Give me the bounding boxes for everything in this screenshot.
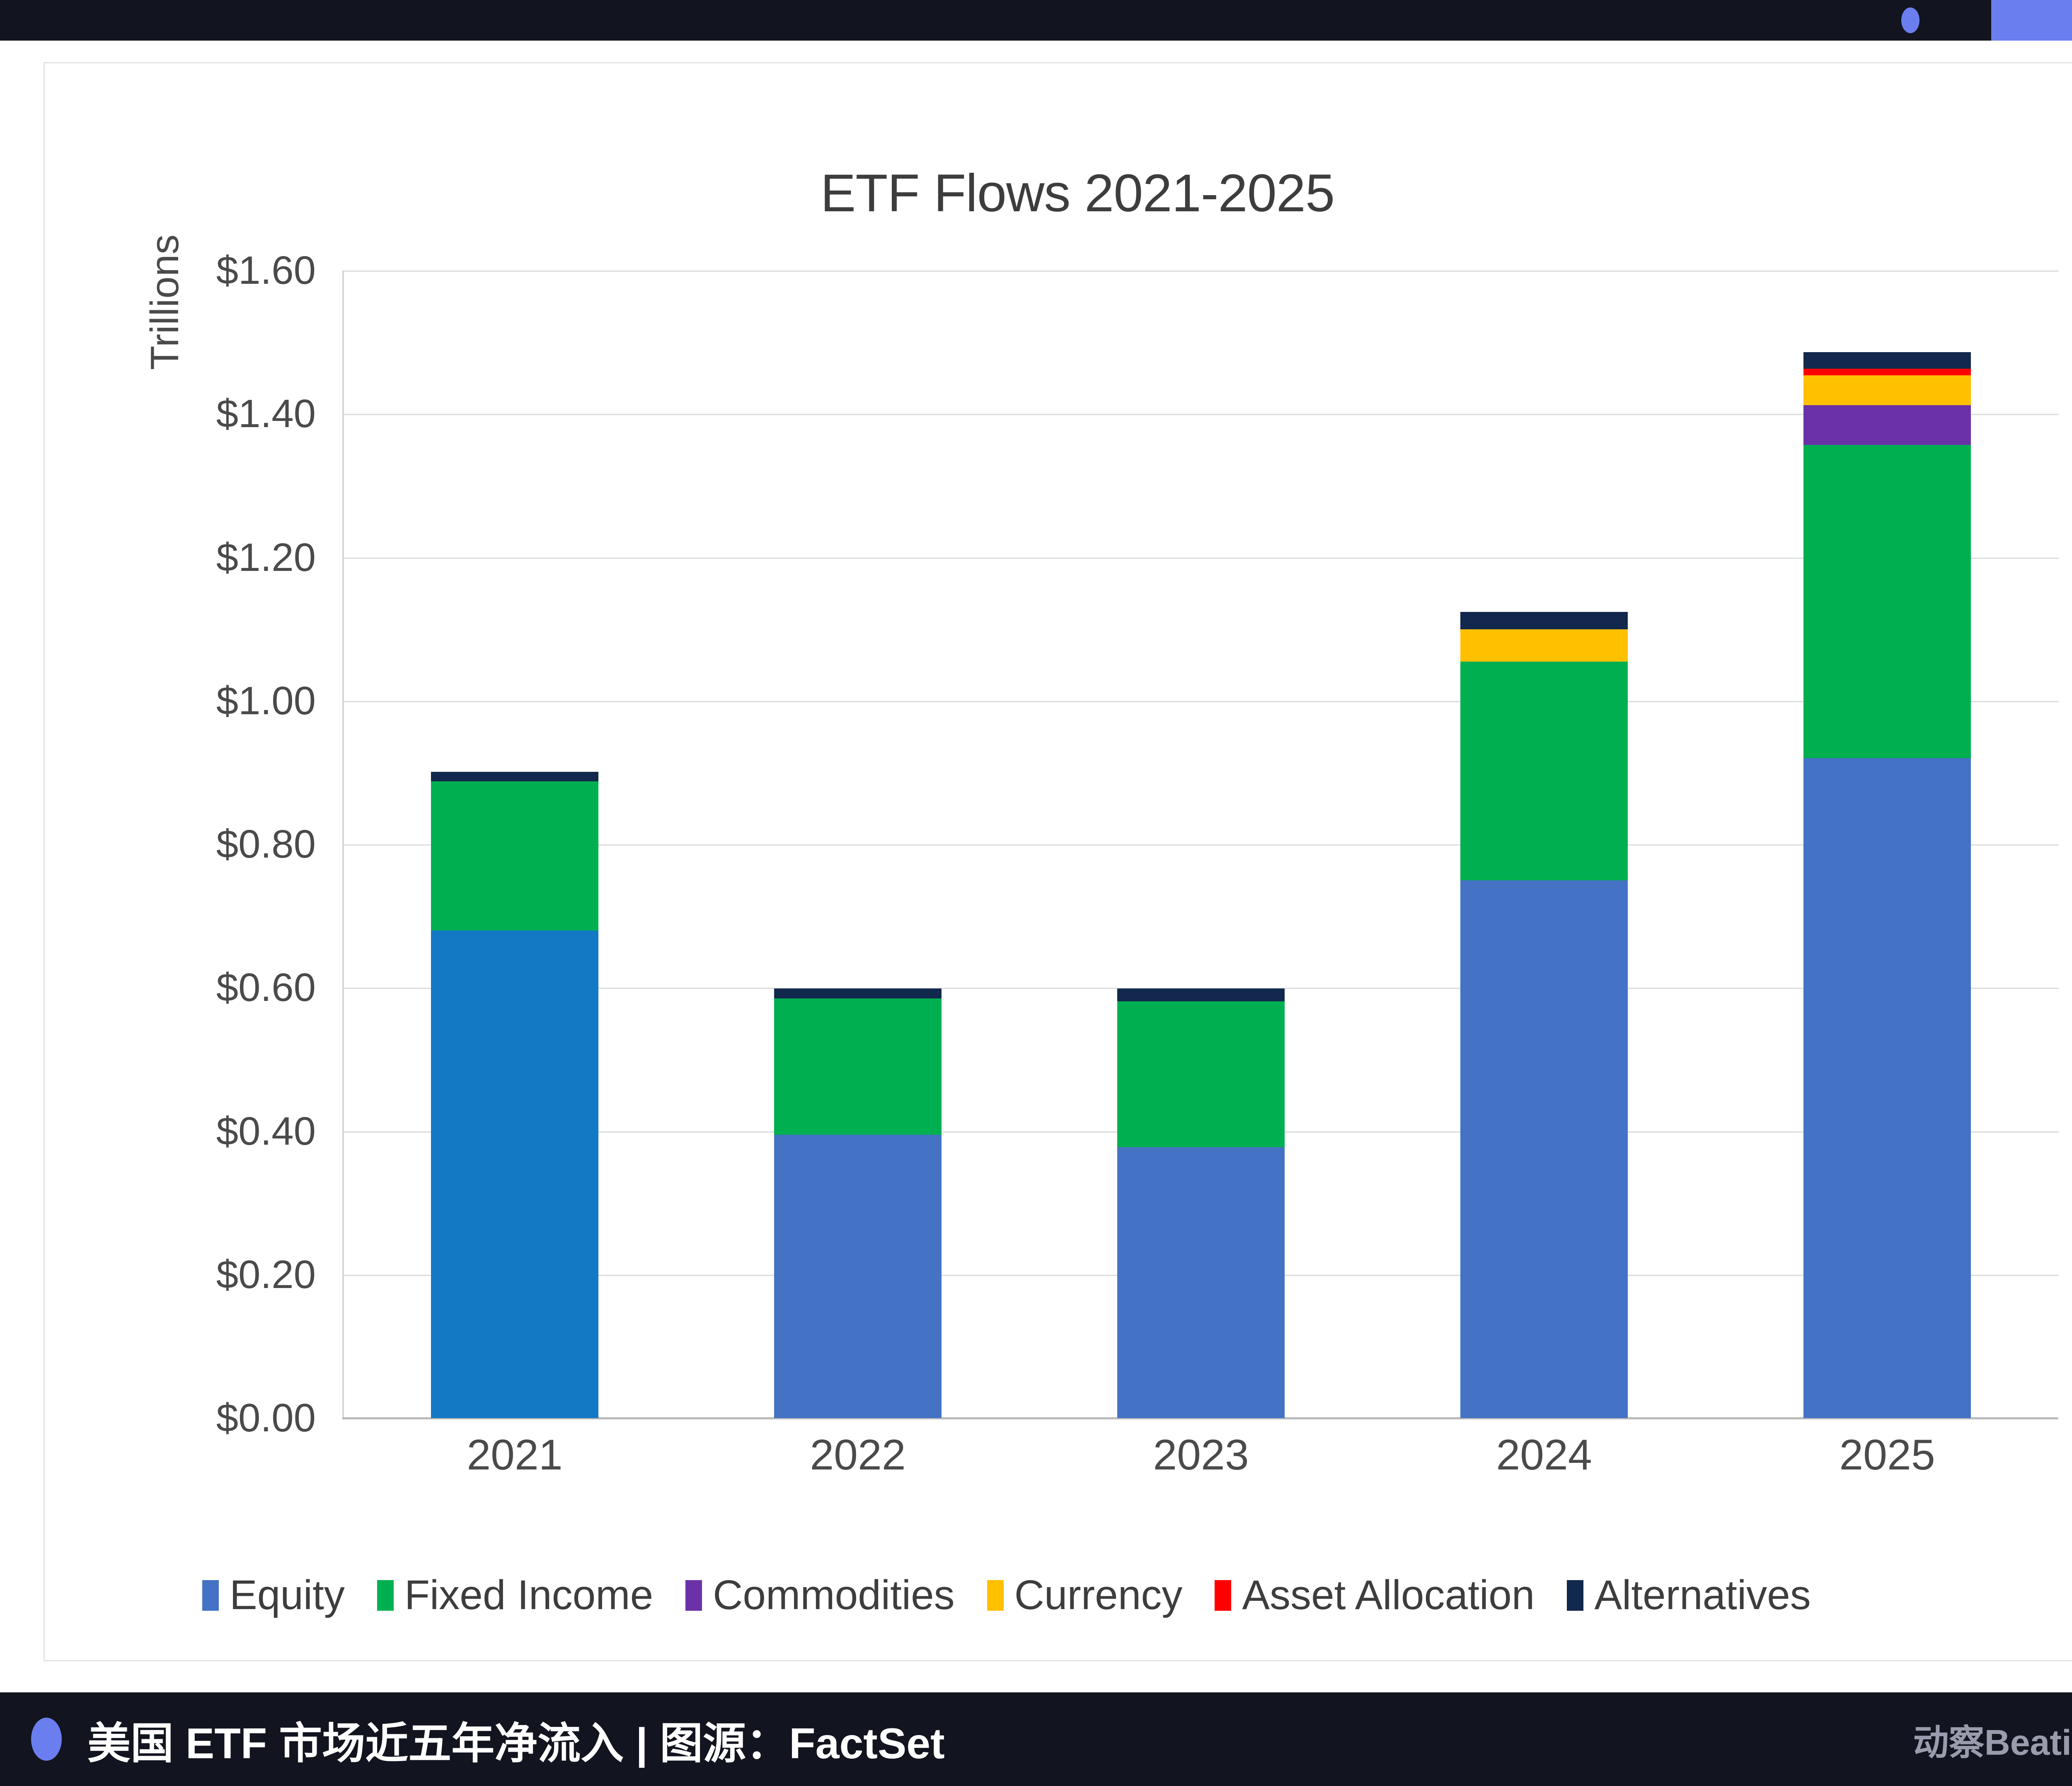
legend-label: Equity [230, 1571, 345, 1619]
legend-label: Currency [1014, 1571, 1183, 1619]
y-axis-tick-label: $1.20 [125, 535, 341, 580]
footer-caption-bar: 美国 ETF 市场近五年净流入 | 图源：FactSet 动察Beating [0, 1692, 2072, 1786]
bar-segment-equity-2022[interactable] [774, 1135, 942, 1418]
legend-item-commodities[interactable]: Commodities [685, 1571, 955, 1619]
top-bar-dot-icon [1901, 7, 1920, 33]
bar-segment-fixed-income-2025[interactable] [1803, 445, 1971, 759]
bar-segment-alternatives-2021[interactable] [431, 772, 598, 781]
legend-swatch-icon [987, 1580, 1004, 1611]
legend-swatch-icon [202, 1580, 219, 1611]
legend-label: Fixed Income [404, 1571, 653, 1619]
bar-segment-equity-2024[interactable] [1460, 880, 1628, 1418]
gridline [343, 414, 2059, 415]
legend-swatch-icon [1567, 1580, 1583, 1611]
legend-item-equity[interactable]: Equity [202, 1571, 345, 1619]
bar-segment-fixed-income-2023[interactable] [1117, 1001, 1285, 1147]
footer-watermark: 动察Beating [1913, 1713, 2072, 1765]
bar-segment-currency-2024[interactable] [1460, 629, 1628, 662]
x-axis-tick-label-2023: 2023 [1056, 1431, 1346, 1480]
legend-item-alternatives[interactable]: Alternatives [1567, 1571, 1811, 1619]
value-axis-line [342, 271, 344, 1418]
x-axis-tick-label-2025: 2025 [1742, 1431, 2032, 1480]
legend-label: Asset Allocation [1242, 1571, 1535, 1619]
y-axis-tick-label: $0.60 [125, 965, 341, 1010]
bar-segment-equity-2021[interactable] [431, 930, 598, 1418]
bar-stack-2024[interactable] [1460, 612, 1628, 1418]
x-axis-tick-label-2024: 2024 [1399, 1431, 1689, 1480]
bar-stack-2023[interactable] [1117, 988, 1285, 1418]
legend-label: Alternatives [1594, 1571, 1811, 1619]
y-axis-tick-label: $1.40 [125, 391, 341, 437]
legend-item-asset-allocation[interactable]: Asset Allocation [1215, 1571, 1535, 1619]
bar-segment-alternatives-2025[interactable] [1803, 352, 1971, 369]
gridline [343, 271, 2059, 272]
top-bar-accent-block [1991, 0, 2072, 41]
chart-card: ETF Flows 2021-2025 Trillions $1.60$1.40… [44, 62, 2072, 1661]
y-axis-tick-label: $0.00 [125, 1395, 341, 1441]
legend-swatch-icon [1215, 1580, 1231, 1611]
bar-segment-equity-2023[interactable] [1117, 1147, 1285, 1418]
bar-stack-2025[interactable] [1803, 352, 1971, 1418]
gridline [343, 844, 2059, 846]
bar-segment-commodities-2025[interactable] [1803, 405, 1971, 445]
y-axis-tick-label: $0.20 [125, 1252, 341, 1298]
y-axis-tick-label: $1.00 [125, 678, 341, 724]
bar-segment-alternatives-2023[interactable] [1117, 988, 1285, 1001]
gridline [343, 701, 2059, 702]
bar-segment-asset-allocation-2025[interactable] [1803, 369, 1971, 375]
chart-title: ETF Flows 2021-2025 [45, 163, 2072, 224]
x-axis-tick-label-2021: 2021 [370, 1431, 660, 1480]
legend-swatch-icon [685, 1580, 702, 1611]
legend-label: Commodities [713, 1571, 955, 1619]
chart-legend: EquityFixed IncomeCommoditiesCurrencyAss… [202, 1571, 2026, 1619]
bar-segment-fixed-income-2024[interactable] [1460, 662, 1628, 880]
top-chrome-bar [0, 0, 2072, 41]
legend-swatch-icon [377, 1580, 394, 1611]
legend-item-currency[interactable]: Currency [987, 1571, 1183, 1619]
plot-area [343, 271, 2059, 1418]
footer-bullet-icon [31, 1718, 62, 1761]
bar-segment-alternatives-2022[interactable] [774, 988, 942, 998]
y-axis-tick-label: $0.40 [125, 1109, 341, 1154]
bar-segment-fixed-income-2022[interactable] [774, 998, 942, 1135]
gridline [343, 558, 2059, 559]
y-axis-tick-label: $0.80 [125, 822, 341, 867]
bar-segment-fixed-income-2021[interactable] [431, 781, 598, 930]
bar-segment-alternatives-2024[interactable] [1460, 612, 1628, 629]
legend-item-fixed-income[interactable]: Fixed Income [377, 1571, 653, 1619]
y-axis-tick-label: $1.60 [125, 248, 341, 293]
bar-segment-equity-2025[interactable] [1803, 758, 1971, 1418]
bar-stack-2021[interactable] [431, 772, 598, 1418]
bar-stack-2022[interactable] [774, 988, 942, 1418]
x-axis-tick-label-2022: 2022 [713, 1431, 1003, 1480]
bar-segment-currency-2025[interactable] [1803, 375, 1971, 406]
footer-caption-text: 美国 ETF 市场近五年净流入 | 图源：FactSet [87, 1708, 945, 1771]
